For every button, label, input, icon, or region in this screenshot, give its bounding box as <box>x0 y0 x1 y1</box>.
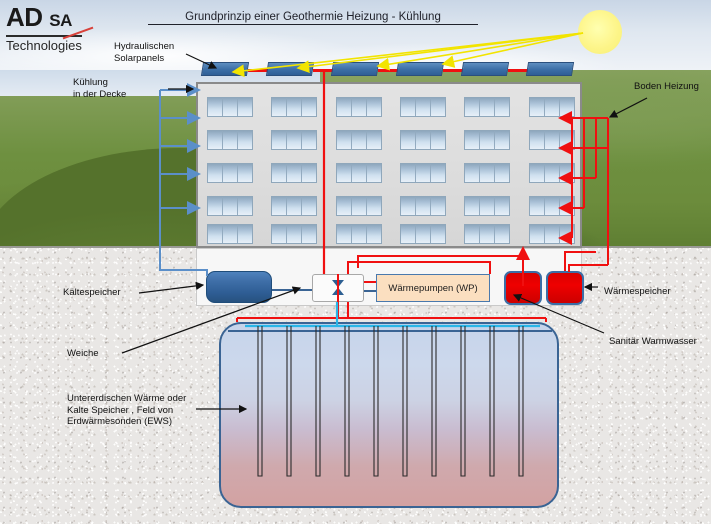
window-pane <box>337 131 352 149</box>
building-window <box>271 196 317 216</box>
building-window <box>336 163 382 183</box>
window-pane <box>530 131 545 149</box>
label-sanitary-hot-water: Sanitär Warmwasser <box>609 336 697 348</box>
window-pane <box>431 131 445 149</box>
page-title: Grundprinzip einer Geothermie Heizung - … <box>148 11 478 25</box>
window-pane <box>352 131 367 149</box>
window-pane <box>545 225 560 243</box>
building-floor <box>198 162 584 184</box>
window-pane <box>480 197 495 215</box>
window-pane <box>480 131 495 149</box>
label-ews-field: Untererdischen Wärme oder Kalte Speicher… <box>67 393 186 428</box>
building-window <box>464 163 510 183</box>
window-pane <box>560 131 574 149</box>
window-pane <box>465 164 480 182</box>
window-pane <box>302 225 316 243</box>
building-window <box>271 224 317 244</box>
window-pane <box>208 98 223 116</box>
window-pane <box>416 164 431 182</box>
window-pane <box>530 197 545 215</box>
window-pane <box>431 225 445 243</box>
window-pane <box>465 197 480 215</box>
logo-tagline: Technologies <box>6 38 102 53</box>
window-pane <box>416 197 431 215</box>
heat-storage-tank <box>546 271 584 305</box>
diagram-canvas: AD SA Technologies Grundprinzip einer Ge… <box>0 0 711 524</box>
window-pane <box>401 98 416 116</box>
window-pane <box>495 164 509 182</box>
window-pane <box>416 98 431 116</box>
building-window <box>271 130 317 150</box>
building-window <box>336 97 382 117</box>
building-window <box>207 224 253 244</box>
window-pane <box>223 225 238 243</box>
heat-pump-unit: Wärmepumpen (WP) <box>376 274 490 302</box>
solar-panel <box>396 62 444 76</box>
building-window <box>529 196 575 216</box>
window-pane <box>401 197 416 215</box>
building-window <box>400 224 446 244</box>
solar-panel <box>201 62 249 76</box>
window-pane <box>272 164 287 182</box>
building-window <box>529 224 575 244</box>
label-floor-heating: Boden Heizung <box>634 81 699 93</box>
sun-icon <box>578 10 622 54</box>
window-pane <box>337 225 352 243</box>
window-pane <box>223 98 238 116</box>
window-pane <box>431 164 445 182</box>
window-pane <box>302 98 316 116</box>
window-pane <box>367 131 381 149</box>
window-pane <box>238 197 252 215</box>
window-pane <box>401 225 416 243</box>
label-heat-storage: Wärmespeicher <box>604 286 671 298</box>
window-pane <box>238 131 252 149</box>
heat-pump-label: Wärmepumpen (WP) <box>388 283 477 294</box>
window-pane <box>302 131 316 149</box>
window-pane <box>367 98 381 116</box>
window-pane <box>367 197 381 215</box>
window-pane <box>545 98 560 116</box>
window-pane <box>495 225 509 243</box>
solar-panel <box>461 62 509 76</box>
building-window <box>271 97 317 117</box>
window-pane <box>401 131 416 149</box>
window-pane <box>431 197 445 215</box>
window-pane <box>287 98 302 116</box>
window-pane <box>545 164 560 182</box>
company-logo: AD SA Technologies <box>6 4 102 58</box>
window-pane <box>272 197 287 215</box>
window-pane <box>352 164 367 182</box>
window-pane <box>480 225 495 243</box>
building <box>196 82 582 248</box>
window-pane <box>208 164 223 182</box>
window-pane <box>465 225 480 243</box>
window-pane <box>431 98 445 116</box>
window-pane <box>367 225 381 243</box>
window-pane <box>208 225 223 243</box>
window-pane <box>287 164 302 182</box>
window-pane <box>545 197 560 215</box>
window-pane <box>416 131 431 149</box>
building-window <box>529 97 575 117</box>
building-window <box>271 163 317 183</box>
window-pane <box>302 164 316 182</box>
building-window <box>464 130 510 150</box>
building-window <box>207 163 253 183</box>
window-pane <box>560 225 574 243</box>
window-pane <box>480 164 495 182</box>
window-pane <box>287 225 302 243</box>
window-pane <box>465 131 480 149</box>
window-pane <box>337 197 352 215</box>
geothermal-storage-field <box>219 322 559 508</box>
window-pane <box>238 225 252 243</box>
label-ceiling-cooling: Kühlung in der Decke <box>73 77 126 100</box>
hourglass-valve-icon <box>313 275 363 300</box>
window-pane <box>560 164 574 182</box>
building-window <box>529 163 575 183</box>
building-window <box>464 196 510 216</box>
cold-storage-tank <box>206 271 272 303</box>
building-floor <box>198 96 584 118</box>
building-floor <box>198 223 584 245</box>
window-pane <box>367 164 381 182</box>
building-window <box>207 196 253 216</box>
window-pane <box>560 98 574 116</box>
window-pane <box>495 131 509 149</box>
window-pane <box>416 225 431 243</box>
window-pane <box>530 164 545 182</box>
hydraulic-switch-valve <box>312 274 364 302</box>
solar-panel <box>526 62 574 76</box>
building-window <box>336 224 382 244</box>
building-window <box>464 97 510 117</box>
window-pane <box>302 197 316 215</box>
window-pane <box>337 164 352 182</box>
window-pane <box>272 131 287 149</box>
window-pane <box>238 164 252 182</box>
window-pane <box>495 98 509 116</box>
building-window <box>207 130 253 150</box>
building-window <box>400 97 446 117</box>
label-hydraulic-switch: Weiche <box>67 348 99 360</box>
window-pane <box>480 98 495 116</box>
window-pane <box>530 225 545 243</box>
building-floor <box>198 129 584 151</box>
window-pane <box>208 197 223 215</box>
window-pane <box>495 197 509 215</box>
window-pane <box>287 197 302 215</box>
window-pane <box>337 98 352 116</box>
window-pane <box>223 197 238 215</box>
building-window <box>207 97 253 117</box>
label-solar-panels: Hydraulischen Solarpanels <box>114 41 174 64</box>
window-pane <box>352 225 367 243</box>
hot-water-tank <box>504 271 542 305</box>
building-window <box>400 196 446 216</box>
solar-panel <box>331 62 379 76</box>
window-pane <box>238 98 252 116</box>
window-pane <box>287 131 302 149</box>
building-window <box>336 130 382 150</box>
window-pane <box>560 197 574 215</box>
window-pane <box>208 131 223 149</box>
window-pane <box>530 98 545 116</box>
window-pane <box>223 131 238 149</box>
building-floor <box>198 195 584 217</box>
solar-panel-array <box>202 62 576 80</box>
building-window <box>336 196 382 216</box>
window-pane <box>223 164 238 182</box>
window-pane <box>352 98 367 116</box>
window-pane <box>401 164 416 182</box>
window-pane <box>272 225 287 243</box>
building-window <box>400 163 446 183</box>
label-cold-storage: Kältespeicher <box>63 287 121 299</box>
building-window <box>529 130 575 150</box>
building-window <box>400 130 446 150</box>
window-pane <box>352 197 367 215</box>
window-pane <box>465 98 480 116</box>
building-window <box>464 224 510 244</box>
window-pane <box>272 98 287 116</box>
window-pane <box>545 131 560 149</box>
solar-panel <box>266 62 314 76</box>
